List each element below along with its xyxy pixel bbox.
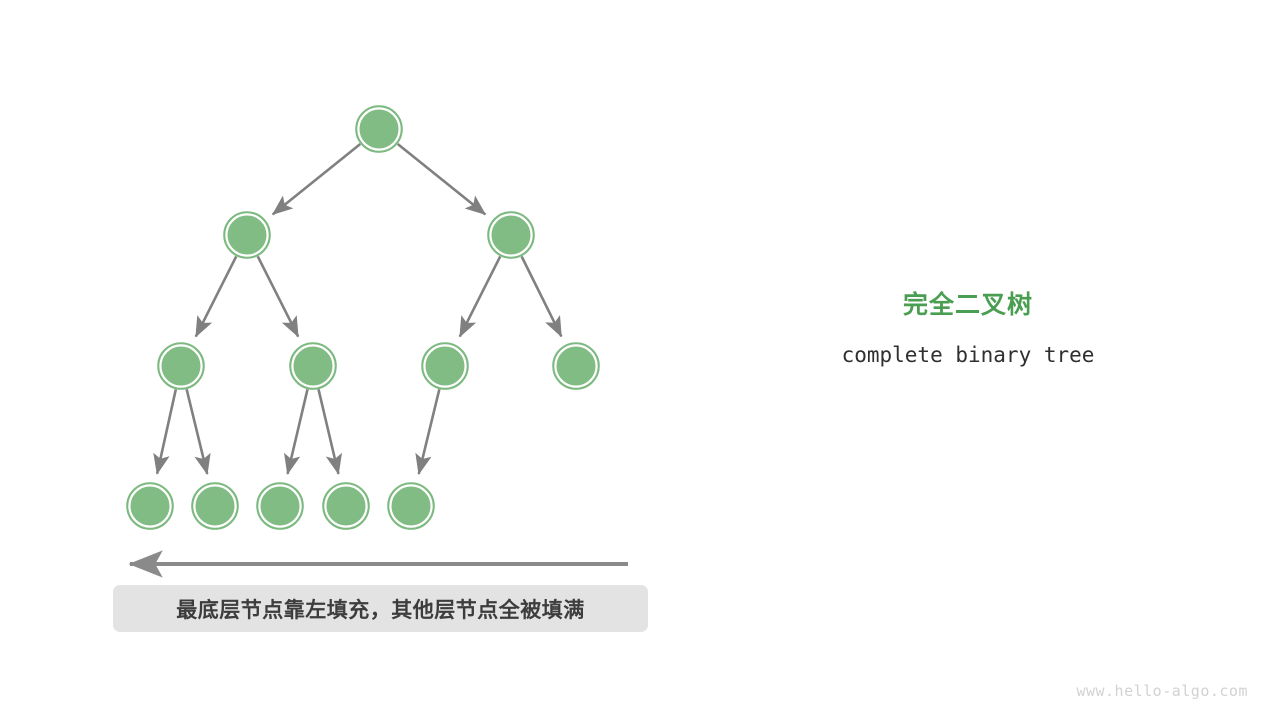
tree-node-disc [360,110,398,148]
tree-node [422,343,468,389]
tree-node [323,483,369,529]
tree-node [127,483,173,529]
tree-node-disc [426,347,464,385]
tree-edge [187,389,208,474]
tree-node-disc [162,347,200,385]
tree-edge [398,144,486,214]
tree-node [290,343,336,389]
tree-node [192,483,238,529]
tree-node [388,483,434,529]
tree-edge [196,256,236,336]
tree-edge [258,256,298,336]
node-layer [127,106,599,529]
tree-node [257,483,303,529]
diagram-canvas: 完全二叉树 complete binary tree 最底层节点靠左填充，其他层… [0,0,1280,720]
tree-node-disc [294,347,332,385]
tree-edge [273,144,361,214]
tree-node [158,343,204,389]
title-chinese: 完全二叉树 [768,288,1168,322]
tree-node [356,106,402,152]
tree-node-disc [261,487,299,525]
tree-node-disc [228,216,266,254]
tree-node-disc [196,487,234,525]
watermark: www.hello-algo.com [1076,682,1248,700]
tree-edge [157,389,176,473]
tree-node-disc [492,216,530,254]
legend-block: 完全二叉树 complete binary tree [768,288,1168,370]
edge-layer [157,144,561,474]
caption-text: 最底层节点靠左填充，其他层节点全被填满 [176,594,585,624]
tree-edge [319,389,339,474]
tree-node-disc [557,347,595,385]
tree-node [553,343,599,389]
tree-node-disc [392,487,430,525]
tree-edge [288,389,308,474]
tree-edge [460,256,500,336]
tree-node [224,212,270,258]
tree-node [488,212,534,258]
title-english: complete binary tree [768,322,1168,370]
caption-box: 最底层节点靠左填充，其他层节点全被填满 [113,585,648,632]
tree-node-disc [327,487,365,525]
tree-edge [419,389,440,474]
tree-edge [522,256,562,336]
tree-node-disc [131,487,169,525]
